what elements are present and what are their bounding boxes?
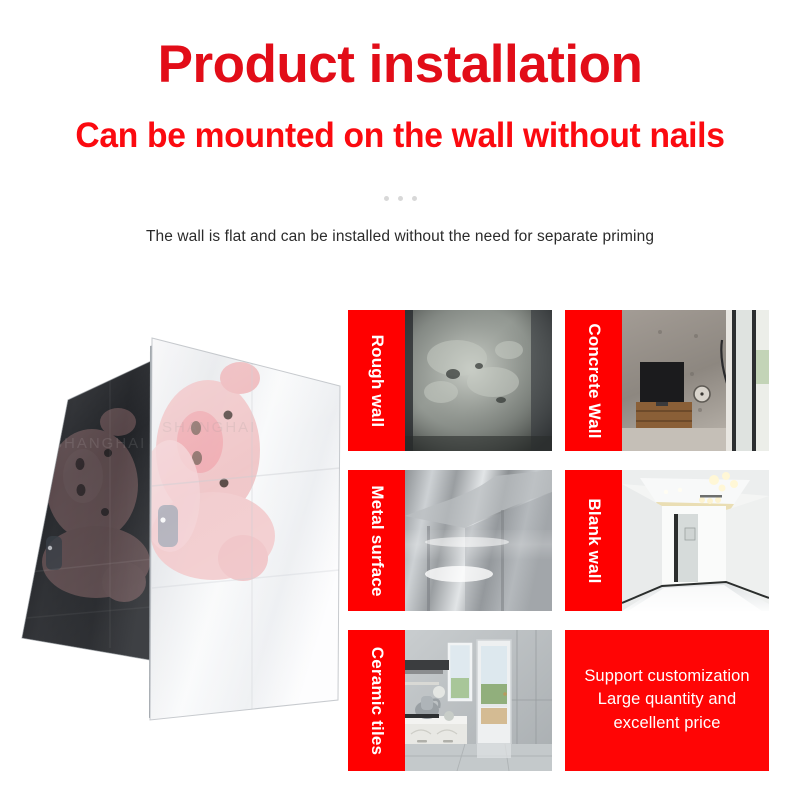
dot-1 xyxy=(384,196,389,201)
scenario-label: Blank wall xyxy=(584,498,604,583)
scenario-photo xyxy=(405,310,552,451)
promo-line-3: excellent price xyxy=(565,712,769,736)
promo-line-2: Large quantity and xyxy=(565,689,769,713)
scenario-card[interactable]: Metal surface xyxy=(348,470,552,611)
scenario-label: Ceramic tiles xyxy=(367,646,387,754)
scenario-card[interactable]: Rough wall xyxy=(348,310,552,451)
scenario-label-strip: Rough wall xyxy=(348,310,405,451)
scenario-photo xyxy=(405,630,552,771)
three-dots-icon xyxy=(0,196,800,201)
scenario-label: Metal surface xyxy=(367,485,387,596)
lead-description: The wall is flat and can be installed wi… xyxy=(0,228,800,246)
promo-line-1: Support customization xyxy=(565,665,769,689)
scenario-card[interactable]: Blank wall xyxy=(565,470,769,611)
scenario-label-strip: Metal surface xyxy=(348,470,405,611)
promo-text: Support customization Large quantity and… xyxy=(565,665,769,737)
scenario-label-strip: Ceramic tiles xyxy=(348,630,405,771)
scenario-photo xyxy=(622,310,769,451)
application-scenario-grid: Rough wall xyxy=(348,310,770,772)
page-subtitle: Can be mounted on the wall without nails xyxy=(16,118,784,155)
scenario-label-strip: Blank wall xyxy=(565,470,622,611)
promo-card[interactable]: Support customization Large quantity and… xyxy=(565,630,769,771)
scenario-label: Concrete Wall xyxy=(584,323,604,438)
dot-2 xyxy=(398,196,403,201)
scenario-photo xyxy=(622,470,769,611)
scenario-label: Rough wall xyxy=(367,334,387,427)
dot-3 xyxy=(412,196,417,201)
scenario-card[interactable]: Ceramic tiles xyxy=(348,630,552,771)
marketing-banner: Product installation Can be mounted on t… xyxy=(0,0,800,800)
product-photo: SHANGHAI xyxy=(0,300,345,770)
page-title: Product installation xyxy=(0,38,800,92)
scenario-card[interactable]: Concrete Wall xyxy=(565,310,769,451)
scenario-label-strip: Concrete Wall xyxy=(565,310,622,451)
scenario-photo xyxy=(405,470,552,611)
